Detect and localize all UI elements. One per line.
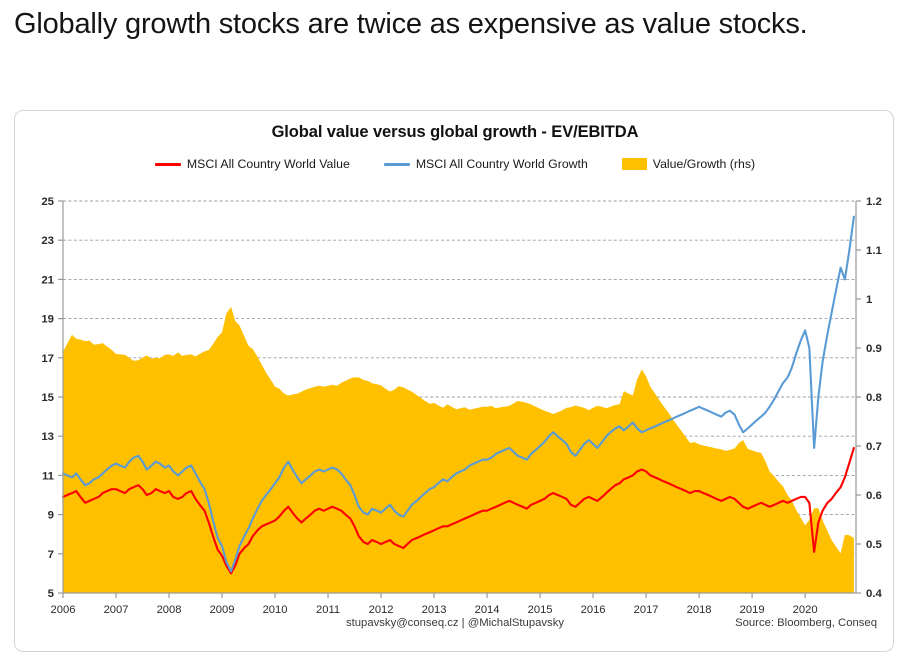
y-axis-tick-right: 0.4 bbox=[866, 588, 882, 600]
x-axis-tick: 2018 bbox=[687, 604, 712, 616]
chart-svg: 57911131517192123250.40.50.60.70.80.911.… bbox=[15, 111, 894, 652]
chart-card: Global value versus global growth - EV/E… bbox=[14, 110, 894, 652]
x-axis-tick: 2008 bbox=[157, 604, 182, 616]
y-axis-tick-right: 0.6 bbox=[866, 490, 882, 502]
y-axis-tick-right: 1.1 bbox=[866, 245, 882, 257]
y-axis-tick-left: 21 bbox=[41, 274, 54, 286]
y-axis-tick-left: 17 bbox=[41, 353, 54, 365]
y-axis-tick-left: 7 bbox=[48, 549, 54, 561]
y-axis-tick-left: 11 bbox=[42, 470, 55, 482]
x-axis-tick: 2009 bbox=[210, 604, 235, 616]
page-title: Globally growth stocks are twice as expe… bbox=[14, 4, 894, 45]
x-axis-tick: 2010 bbox=[263, 604, 288, 616]
footer-source: Source: Bloomberg, Conseq bbox=[735, 617, 877, 629]
x-axis-tick: 2016 bbox=[581, 604, 606, 616]
y-axis-tick-right: 0.9 bbox=[866, 343, 882, 355]
page-root: Globally growth stocks are twice as expe… bbox=[0, 0, 908, 660]
x-axis-tick: 2011 bbox=[316, 604, 340, 616]
y-axis-tick-left: 25 bbox=[41, 196, 54, 208]
y-axis-tick-right: 1.2 bbox=[866, 196, 882, 208]
y-axis-tick-left: 5 bbox=[48, 588, 55, 600]
x-axis-tick: 2015 bbox=[528, 604, 553, 616]
x-axis-tick: 2012 bbox=[369, 604, 394, 616]
x-axis-tick: 2020 bbox=[793, 604, 818, 616]
x-axis-tick: 2007 bbox=[104, 604, 129, 616]
y-axis-tick-left: 9 bbox=[48, 510, 54, 522]
x-axis-tick: 2013 bbox=[422, 604, 447, 616]
x-axis-tick: 2017 bbox=[634, 604, 659, 616]
y-axis-tick-left: 19 bbox=[41, 314, 54, 326]
y-axis-tick-left: 23 bbox=[41, 235, 54, 247]
x-axis-tick: 2019 bbox=[740, 604, 765, 616]
plot-area: 57911131517192123250.40.50.60.70.80.911.… bbox=[15, 111, 894, 652]
x-axis-tick: 2014 bbox=[475, 604, 500, 616]
y-axis-tick-right: 0.7 bbox=[866, 441, 882, 453]
y-axis-tick-left: 15 bbox=[41, 392, 54, 404]
y-axis-tick-right: 0.5 bbox=[866, 539, 882, 551]
x-axis-tick: 2006 bbox=[51, 604, 76, 616]
y-axis-tick-left: 13 bbox=[41, 431, 54, 443]
y-axis-tick-right: 1 bbox=[866, 294, 873, 306]
y-axis-tick-right: 0.8 bbox=[866, 392, 882, 404]
